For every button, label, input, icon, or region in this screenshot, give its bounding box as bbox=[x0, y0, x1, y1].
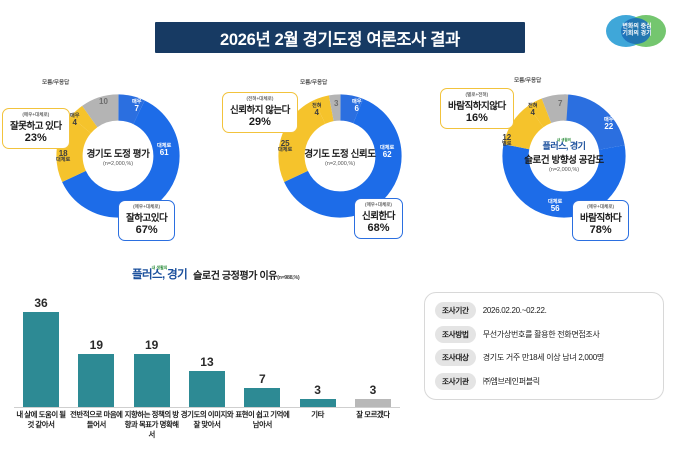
donut-chart-governance-evaluation: 모름/무응답 경기도 도정 평가 (n=2,000,%) 매우 7 대체로 61 bbox=[6, 66, 230, 252]
donut-chart-slogan-empathy: 모름/무응답 내 생활의 플러스, 경기 슬로건 방향성 공감도 (n=2,00… bbox=[452, 66, 676, 252]
donut-2-label-매우-positive-value: 6 bbox=[352, 105, 362, 113]
info-row-period: 조사기간 2026.02.20.~02.22. bbox=[435, 302, 653, 319]
donut-3-callout-negative: (별로+전혀) 바람직하지않다 16% bbox=[440, 88, 514, 129]
donut-1-callout-positive: (매우+대체로) 잘하고있다 67% bbox=[118, 200, 175, 241]
donut-1-callout-negative-pct: 23% bbox=[10, 132, 62, 144]
bar-value: 36 bbox=[34, 296, 47, 310]
bar-item: 3 bbox=[291, 296, 345, 407]
bar-value: 19 bbox=[145, 338, 158, 352]
page-header: 2026년 2월 경기도정 여론조사 결과 변화의 중심 기회의 경기 bbox=[0, 0, 680, 62]
bar-rect bbox=[355, 399, 391, 407]
donut-2-label-대체로-positive-value: 62 bbox=[380, 151, 394, 159]
bar-value: 3 bbox=[314, 383, 321, 397]
bar-rect bbox=[23, 312, 59, 407]
donut-3-label-no-answer: 7 bbox=[558, 100, 562, 108]
donut-2-seg-no-answer bbox=[291, 107, 388, 204]
donut-1-seg-no-answer bbox=[69, 107, 166, 204]
donut-2-label-대체로-negative-name: 대체로 bbox=[278, 148, 292, 153]
donut-1-label-대체로-positive: 대체로 61 bbox=[157, 144, 171, 158]
bar-item: 3 bbox=[346, 296, 400, 407]
bar-category-label: 잘 모르겠다 bbox=[346, 410, 400, 440]
bar-category-label: 내 살에 도움이 될 것 같아서 bbox=[14, 410, 68, 440]
donut-1-callout-positive-main: 잘하고있다 bbox=[126, 210, 167, 224]
bar-rect bbox=[244, 388, 280, 407]
bar-item: 7 bbox=[235, 296, 289, 407]
info-value: 경기도 거주 만18세 이상 남녀 2,000명 bbox=[483, 352, 604, 363]
plus-logo-bar-main-text: 플러스, 경기 bbox=[132, 270, 187, 282]
bar-value: 7 bbox=[259, 372, 266, 386]
bar-rect bbox=[300, 399, 336, 407]
bar-rect bbox=[189, 371, 225, 407]
donut-2-label-전혀-negative-value: 4 bbox=[312, 109, 322, 117]
bar-category-label: 전반적으로 마음에 들어서 bbox=[69, 410, 123, 440]
donut-3-callout-negative-main: 바람직하지않다 bbox=[448, 98, 506, 112]
info-key: 조사대상 bbox=[435, 349, 476, 366]
bar-value: 19 bbox=[90, 338, 103, 352]
bar-item: 13 bbox=[180, 296, 234, 407]
bar-item: 19 bbox=[69, 296, 123, 407]
donut-2-label-매우-positive: 매우 6 bbox=[352, 100, 362, 114]
donut-2-callout-positive-pct: 68% bbox=[362, 222, 395, 234]
info-value: 무선가상번호를 활용한 전화면접조사 bbox=[483, 329, 600, 340]
donut-3-label-매우-value: 22 bbox=[604, 123, 614, 131]
donut-1-label-no-answer: 10 bbox=[99, 98, 108, 106]
info-value: ㈜엠브레인퍼블릭 bbox=[483, 376, 540, 387]
donut-2-callout-positive-main: 신뢰한다 bbox=[362, 208, 395, 222]
donut-1-label-no-answer-value: 10 bbox=[99, 98, 108, 106]
bar-chart-header: 내 생활의 플러스, 경기 슬로건 긍정평가 이유(n=988,%) bbox=[132, 266, 299, 282]
donut-1-callout-negative: (매우+대체로) 잘못하고 있다 23% bbox=[2, 108, 70, 149]
bar-category-label: 표현이 쉽고 기억에 남아서 bbox=[235, 410, 289, 440]
donut-2-label-no-answer: 3 bbox=[334, 100, 338, 108]
donut-3-label-전혀-value: 4 bbox=[528, 109, 538, 117]
info-key: 조사방법 bbox=[435, 326, 476, 343]
bar-rect bbox=[78, 354, 114, 407]
donut-3-outside-label: 모름/무응답 bbox=[514, 76, 541, 84]
donut-2-label-대체로-positive: 대체로 62 bbox=[380, 146, 394, 160]
bar-chart-plot-area: 36 19 19 13 7 3 3 bbox=[14, 296, 400, 408]
donut-2-label-대체로-negative: 25 대체로 bbox=[278, 140, 292, 154]
donut-3-label-매우: 매우 22 bbox=[604, 118, 614, 132]
donut-3-seg-no-answer bbox=[515, 107, 612, 204]
survey-methodology-panel: 조사기간 2026.02.20.~02.22. 조사방법 무선가상번호를 활용한… bbox=[424, 292, 664, 400]
logo-text-line1: 변화의 중심 bbox=[622, 24, 651, 32]
donut-1-outside-label: 모름/무응답 bbox=[42, 78, 69, 86]
donut-3-callout-positive-pct: 78% bbox=[580, 224, 621, 236]
donut-1-callout-negative-main: 잘못하고 있다 bbox=[10, 118, 62, 132]
donut-1-label-매우-negative: 매우 4 bbox=[70, 114, 80, 128]
donut-1-label-대체로-positive-value: 61 bbox=[157, 149, 171, 157]
donut-chart-row: 모름/무응답 경기도 도정 평가 (n=2,000,%) 매우 7 대체로 61 bbox=[0, 66, 680, 252]
donut-1-label-매우-negative-value: 4 bbox=[70, 119, 80, 127]
info-value: 2026.02.20.~02.22. bbox=[483, 306, 547, 315]
donut-3-label-대체로: 대체로 56 bbox=[548, 200, 562, 214]
plus-gyeonggi-logo-bar: 내 생활의 플러스, 경기 bbox=[132, 266, 187, 282]
donut-3-label-별로-name: 별로 bbox=[502, 142, 512, 147]
donut-chart-governance-trust: 모름/무응답 경기도 도정 신뢰도 (n=2,000,%) 매우 6 대체로 6… bbox=[228, 66, 452, 252]
donut-3-label-대체로-value: 56 bbox=[548, 205, 562, 213]
donut-3-callout-negative-pct: 16% bbox=[448, 112, 506, 124]
info-row-method: 조사방법 무선가상번호를 활용한 전화면접조사 bbox=[435, 326, 653, 343]
donut-2-callout-negative-pct: 29% bbox=[230, 116, 290, 128]
bar-value: 13 bbox=[200, 355, 213, 369]
donut-3-callout-positive: (매우+대체로) 바람직하다 78% bbox=[572, 200, 629, 241]
donut-2-callout-negative: (전혀+대체로) 신뢰하지 않는다 29% bbox=[222, 92, 298, 133]
donut-3-label-별로: 12 별로 bbox=[502, 134, 512, 148]
page-title-text: 2026년 2월 경기도정 여론조사 결과 bbox=[220, 26, 460, 50]
donut-1-label-대체로-negative-name: 대체로 bbox=[56, 158, 70, 163]
donut-2-label-no-answer-value: 3 bbox=[334, 100, 338, 108]
gyeonggi-brand-logo: 변화의 중심 기회의 경기 bbox=[604, 12, 670, 50]
donut-2-callout-positive: (매우+대체로) 신뢰한다 68% bbox=[354, 198, 403, 239]
info-key: 조사기간 bbox=[435, 302, 476, 319]
donut-2-label-전혀-negative: 전혀 4 bbox=[312, 104, 322, 118]
bar-category-label: 경기도의 이미지와 잘 맞아서 bbox=[180, 410, 234, 440]
logo-text: 변화의 중심 기회의 경기 bbox=[622, 24, 651, 39]
donut-1-label-매우-positive-value: 7 bbox=[132, 105, 142, 113]
bar-chart-slogan-reasons: 내 생활의 플러스, 경기 슬로건 긍정평가 이유(n=988,%) 36 19… bbox=[14, 262, 400, 452]
info-key: 조사기관 bbox=[435, 373, 476, 390]
donut-2-callout-negative-main: 신뢰하지 않는다 bbox=[230, 102, 290, 116]
info-row-target: 조사대상 경기도 거주 만18세 이상 남녀 2,000명 bbox=[435, 349, 653, 366]
donut-3-label-no-answer-value: 7 bbox=[558, 100, 562, 108]
bar-chart-title: 슬로건 긍정평가 이유(n=988,%) bbox=[193, 267, 299, 282]
bar-chart-title-text: 슬로건 긍정평가 이유 bbox=[193, 271, 277, 282]
donut-1-callout-positive-pct: 67% bbox=[126, 224, 167, 236]
bar-chart-category-labels: 내 살에 도움이 될 것 같아서 전반적으로 마음에 들어서 지향하는 정책의 … bbox=[14, 410, 400, 440]
bar-category-label: 지향하는 정책의 방향과 목표가 명확해서 bbox=[125, 410, 179, 440]
donut-3-label-전혀: 전혀 4 bbox=[528, 104, 538, 118]
donut-2-outside-label: 모름/무응답 bbox=[300, 78, 327, 86]
info-row-agency: 조사기관 ㈜엠브레인퍼블릭 bbox=[435, 373, 653, 390]
logo-text-line2: 기회의 경기 bbox=[622, 31, 651, 39]
bar-chart-title-n: (n=988,%) bbox=[277, 275, 299, 281]
donut-1-label-대체로-negative: 18 대체로 bbox=[56, 150, 70, 164]
donut-3-callout-positive-main: 바람직하다 bbox=[580, 210, 621, 224]
bar-rect bbox=[134, 354, 170, 407]
bar-item: 36 bbox=[14, 296, 68, 407]
page-title: 2026년 2월 경기도정 여론조사 결과 bbox=[155, 22, 525, 53]
bar-category-label: 기타 bbox=[291, 410, 345, 440]
donut-1-label-매우-positive: 매우 7 bbox=[132, 100, 142, 114]
bar-value: 3 bbox=[370, 383, 377, 397]
bar-item: 19 bbox=[125, 296, 179, 407]
